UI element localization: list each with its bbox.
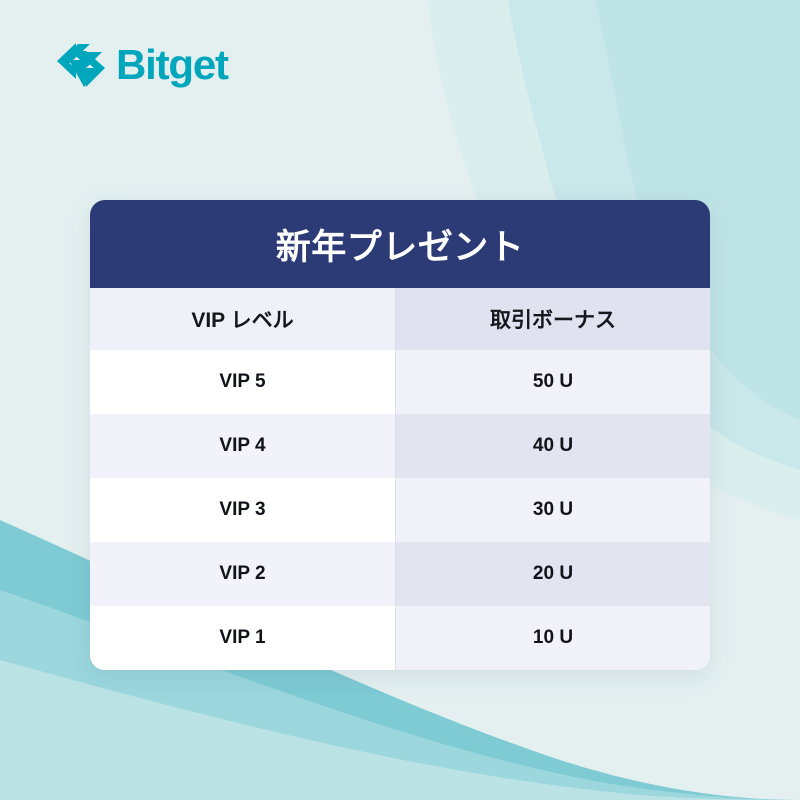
table-row: VIP 1 10 U [90, 606, 710, 670]
brand-name: Bitget [116, 44, 228, 86]
table-row: VIP 4 40 U [90, 414, 710, 478]
swap-arrows-icon [56, 42, 106, 88]
cell-vip-level: VIP 1 [90, 606, 395, 670]
cell-trading-bonus: 40 U [395, 414, 710, 478]
cell-vip-level: VIP 4 [90, 414, 395, 478]
table-header-row: VIP レベル 取引ボーナス [90, 288, 710, 350]
cell-vip-level: VIP 5 [90, 350, 395, 414]
cell-trading-bonus: 10 U [395, 606, 710, 670]
card-title: 新年プレゼント [90, 200, 710, 288]
table-row: VIP 3 30 U [90, 478, 710, 542]
table-row: VIP 5 50 U [90, 350, 710, 414]
cell-trading-bonus: 20 U [395, 542, 710, 606]
promo-card: 新年プレゼント VIP レベル 取引ボーナス VIP 5 50 U VIP 4 … [90, 200, 710, 670]
cell-vip-level: VIP 2 [90, 542, 395, 606]
column-header-vip-level: VIP レベル [90, 288, 395, 350]
brand-logo: Bitget [56, 42, 228, 88]
cell-trading-bonus: 30 U [395, 478, 710, 542]
column-header-trading-bonus: 取引ボーナス [395, 288, 710, 350]
cell-trading-bonus: 50 U [395, 350, 710, 414]
vip-bonus-table: VIP レベル 取引ボーナス VIP 5 50 U VIP 4 40 U VIP… [90, 288, 710, 670]
table-row: VIP 2 20 U [90, 542, 710, 606]
cell-vip-level: VIP 3 [90, 478, 395, 542]
